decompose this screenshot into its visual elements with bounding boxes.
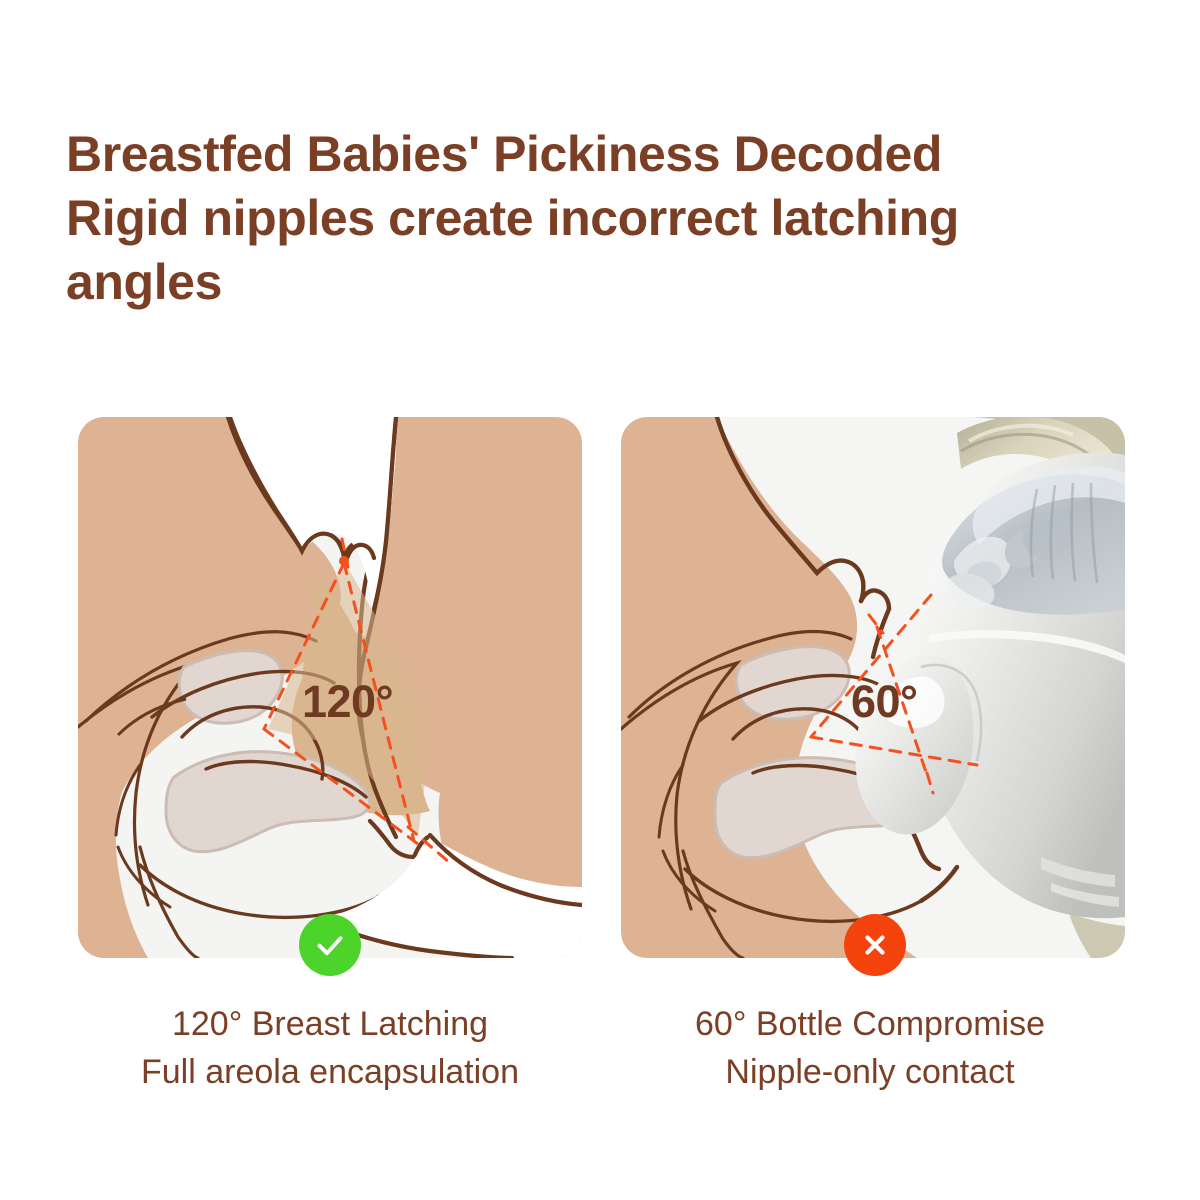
title-line-1: Breastfed Babies' Pickiness Decoded [66,122,1166,186]
caption-bottle-latch: 60° Bottle Compromise Nipple-only contac… [600,1000,1140,1096]
angle-vertex [339,556,349,566]
breast-latch-illustration [78,417,582,958]
title-line-3: angles [66,250,1166,314]
page-title: Breastfed Babies' Pickiness Decoded Rigi… [66,122,1166,314]
caption-breast-latch: 120° Breast Latching Full areola encapsu… [60,1000,600,1096]
status-badge-incorrect [844,914,906,976]
title-line-2: Rigid nipples create incorrect latching [66,186,1166,250]
comparison-panels [0,417,1200,962]
panel-breast-latch [78,417,582,958]
cross-icon [857,927,893,963]
caption-sub-right: Nipple-only contact [600,1048,1140,1096]
panel-bottle-latch [621,417,1125,958]
bottle-latch-illustration [621,417,1125,958]
check-icon [312,927,348,963]
caption-main-left: 120° Breast Latching [60,1000,600,1048]
caption-sub-left: Full areola encapsulation [60,1048,600,1096]
caption-main-right: 60° Bottle Compromise [600,1000,1140,1048]
status-badge-correct [299,914,361,976]
